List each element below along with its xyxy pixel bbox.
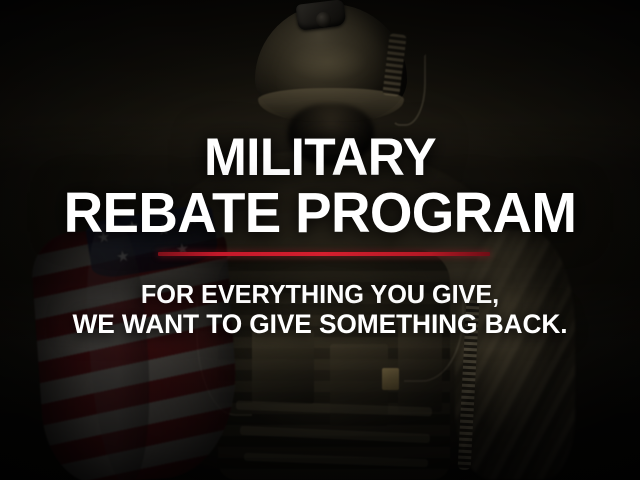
subheadline-line-1: FOR EVERYTHING YOU GIVE, (8, 281, 632, 307)
poster-content: MILITARY REBATE PROGRAM FOR EVERYTHING Y… (0, 0, 640, 480)
headline-line-1: MILITARY (10, 133, 631, 184)
red-divider-rule (158, 252, 490, 256)
military-rebate-poster: ★ ★ ★ ★ ★ ★ MILITARY REBATE PROGRAM FOR … (0, 0, 640, 480)
headline-line-2: REBATE PROGRAM (13, 186, 627, 241)
subheadline-line-2: WE WANT TO GIVE SOMETHING BACK. (8, 311, 632, 338)
